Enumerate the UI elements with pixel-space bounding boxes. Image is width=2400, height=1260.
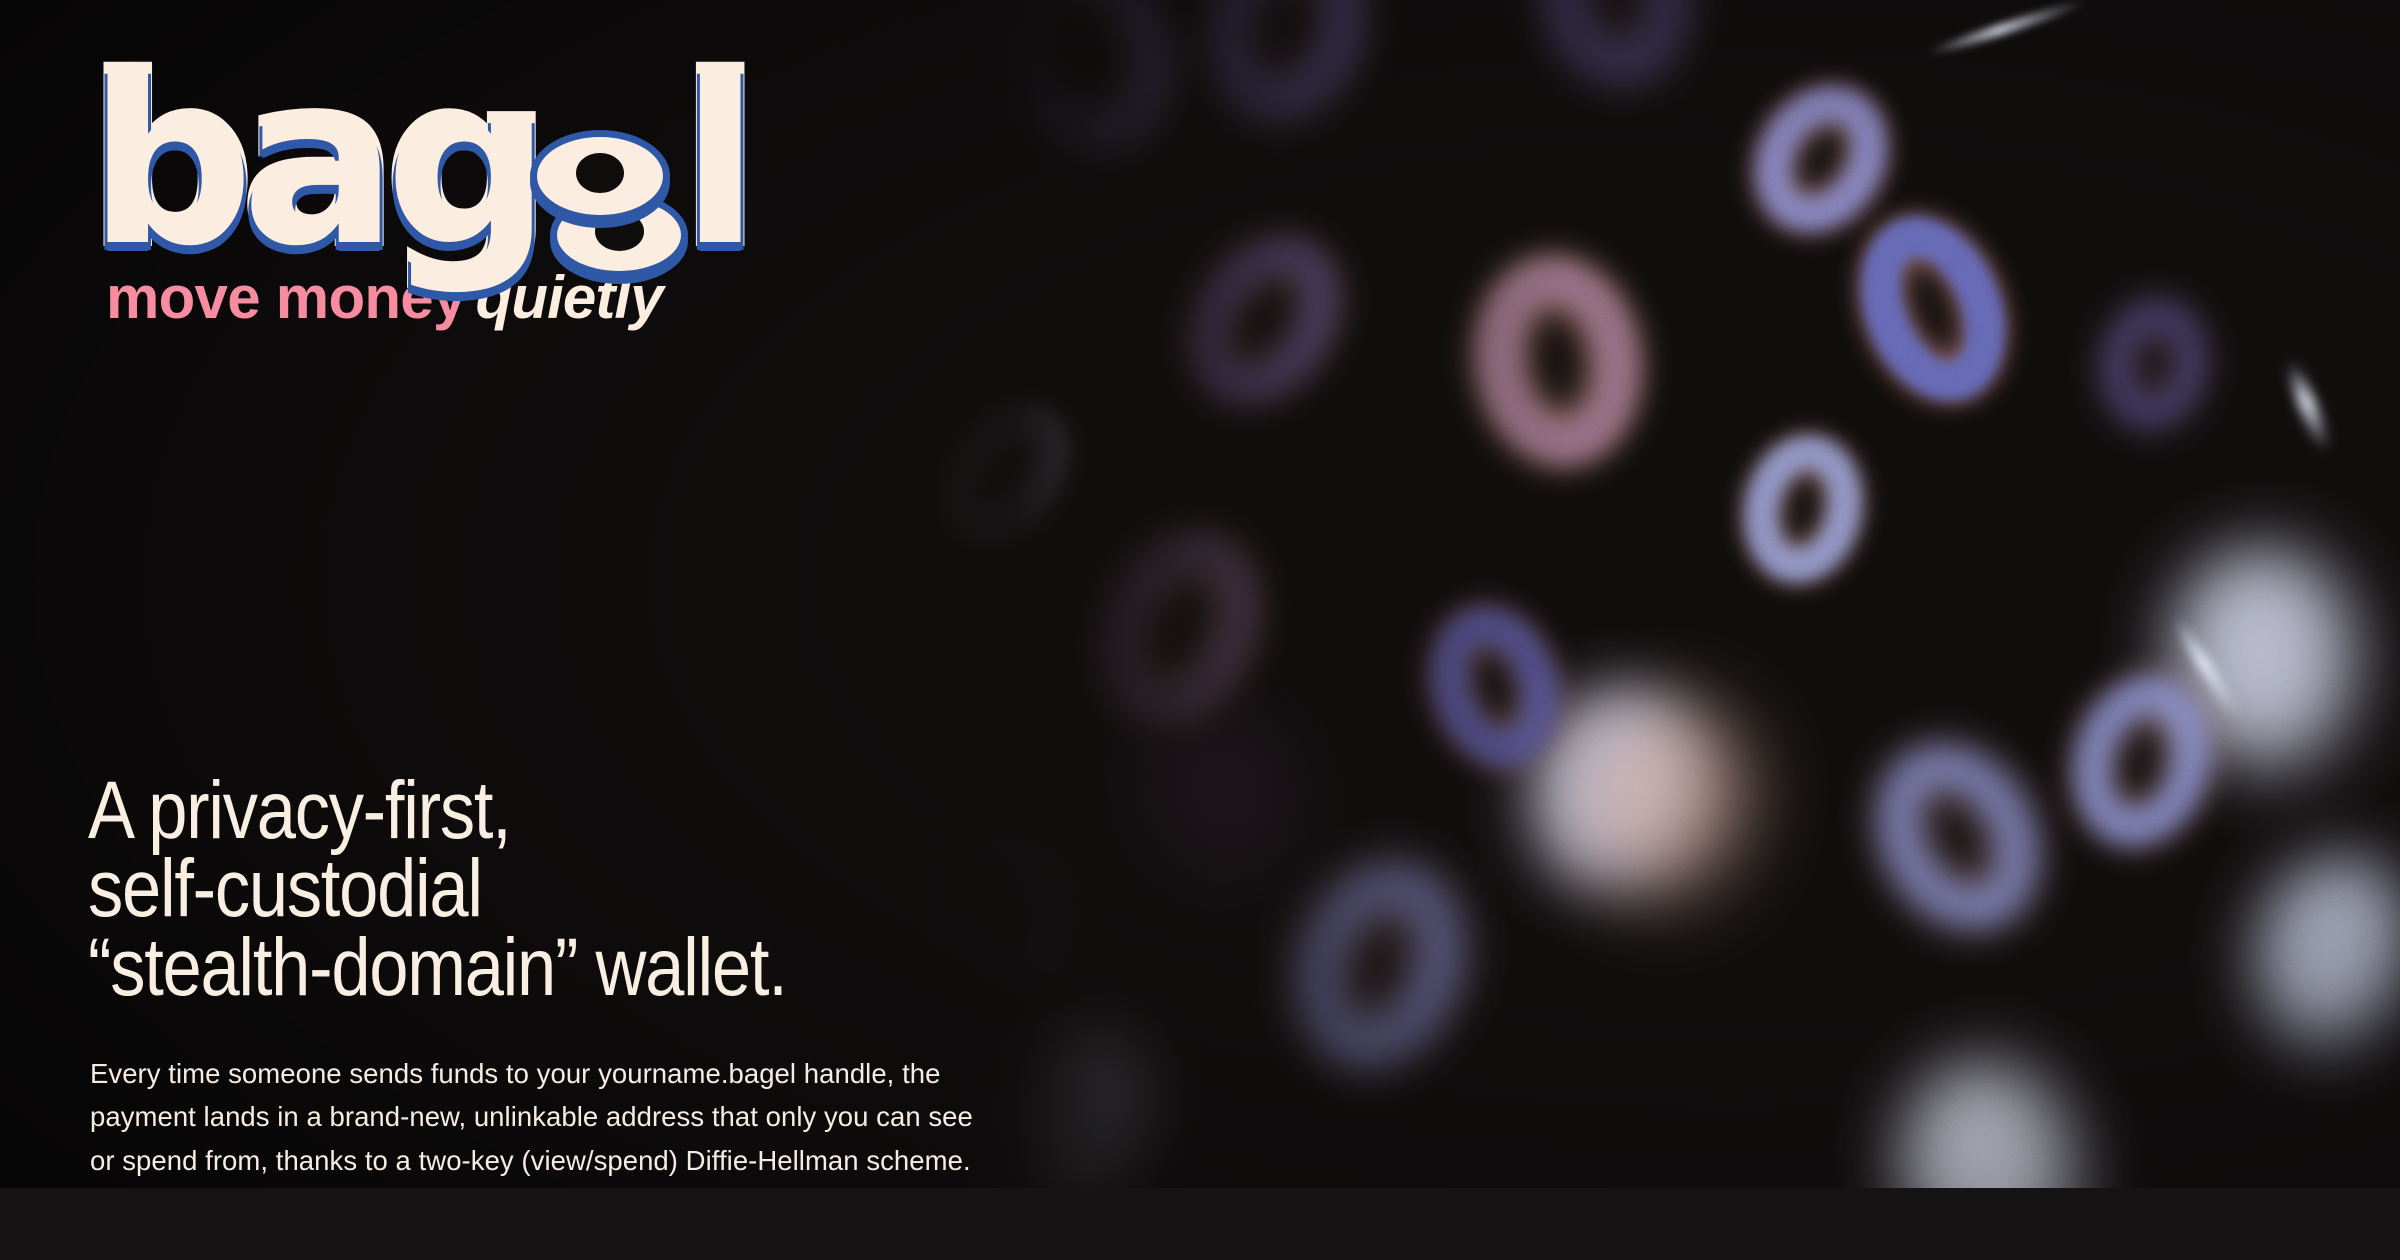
hero-headline: A privacy-first, self-custodial “stealth… — [88, 772, 1051, 1007]
hero-banner: bag l move moneyquietly A privacy-first,… — [0, 0, 2400, 1260]
specular-streak — [1924, 0, 2089, 59]
bokeh-bagel — [1731, 64, 1912, 255]
headline-line-3: “stealth-domain” wallet. — [88, 929, 1051, 1007]
body-line-3: or spend from, thanks to a two-key (view… — [90, 1139, 1170, 1182]
brand-wordmark: bag l — [88, 72, 888, 262]
bokeh-bagel — [1732, 426, 1874, 593]
logo-text-l: l — [680, 72, 747, 253]
bokeh-blob — [2232, 841, 2400, 1077]
bagel-icon — [528, 130, 678, 280]
headline-line-2: self-custodial — [88, 850, 1051, 928]
bokeh-bagel — [2092, 292, 2217, 436]
bokeh-bagel — [1530, 0, 1702, 95]
brand-logo[interactable]: bag l move moneyquietly — [88, 72, 888, 328]
bokeh-bagel — [1270, 841, 1489, 1089]
bokeh-bagel — [1848, 718, 2068, 955]
bokeh-bagel — [1464, 248, 1651, 474]
body-line-2: payment lands in a brand-new, unlinkable… — [90, 1095, 1170, 1138]
bagel-top-slice — [530, 130, 670, 222]
specular-streak — [2283, 358, 2334, 453]
hero-description: Every time someone sends funds to your y… — [90, 1052, 1170, 1182]
hero-content: bag l move moneyquietly A privacy-first,… — [0, 0, 1300, 1260]
body-line-1: Every time someone sends funds to your y… — [90, 1052, 1170, 1095]
bokeh-bagel — [1835, 196, 2030, 422]
logo-text-bag: bag — [88, 72, 538, 253]
headline-line-1: A privacy-first, — [88, 772, 1051, 850]
